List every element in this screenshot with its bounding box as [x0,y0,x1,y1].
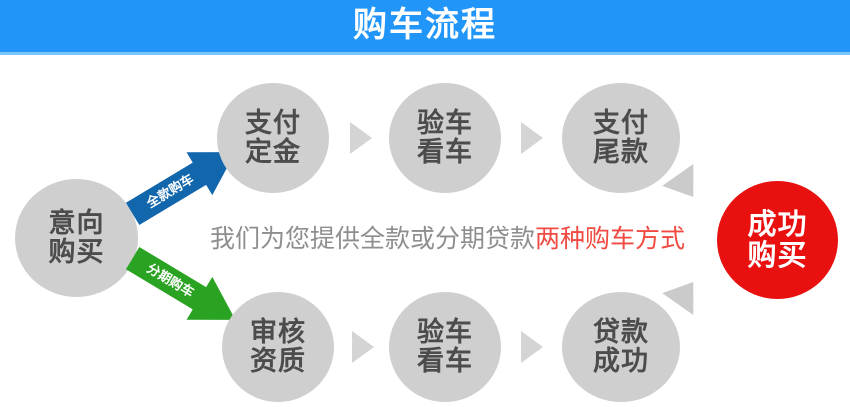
flow-node-line2: 定金 [245,138,301,167]
purchase-flow-infographic: 购车流程 意向 购买 全款购车 分期购车 支付 定金 验车 看车 支付 尾款 审… [0,0,850,407]
flow-node-line2: 看车 [417,347,473,376]
flow-node-line2: 尾款 [593,138,649,167]
flow-node-line2: 看车 [417,138,473,167]
flow-node-loan-approved[interactable]: 贷款 成功 [562,292,680,402]
page-title: 购车流程 [0,0,850,52]
flow-node-line2: 成功 [593,347,649,376]
flow-node-line1: 支付 [593,109,649,138]
flow-node-line1: 贷款 [593,318,649,347]
flow-node-line2: 资质 [250,347,306,376]
flow-node-line1: 支付 [245,109,301,138]
flow-node-line1: 验车 [417,318,473,347]
flow-node-inspect-car-top[interactable]: 验车 看车 [389,83,501,193]
connector-arrow-icon [350,122,372,154]
header-underline [0,52,850,55]
connector-arrow-icon [352,331,374,363]
flow-node-inspect-car-bottom[interactable]: 验车 看车 [389,292,501,402]
merge-arrow-bottom-icon [662,271,709,315]
flow-node-line1: 验车 [417,109,473,138]
merge-arrow-top-icon [662,164,709,208]
tagline: 我们为您提供全款或分期贷款两种购车方式 [200,219,695,255]
tagline-prefix: 我们为您提供全款或分期贷款 [210,224,535,253]
flow-node-line1: 意向 [49,209,105,238]
flow-node-purchase-success[interactable]: 成功 购买 [717,181,838,299]
flow-node-review-qualification[interactable]: 审核 资质 [222,292,334,402]
flow-node-line1: 审核 [250,318,306,347]
connector-arrow-icon [521,331,543,363]
flow-node-line1: 成功 [747,209,807,240]
flow-node-line2: 购买 [747,240,807,271]
connector-arrow-icon [521,122,543,154]
flow-node-pay-balance[interactable]: 支付 尾款 [562,83,680,193]
flow-node-line2: 购买 [49,238,105,267]
tagline-emphasis: 两种购车方式 [535,224,685,253]
flow-node-pay-deposit[interactable]: 支付 定金 [217,83,329,193]
